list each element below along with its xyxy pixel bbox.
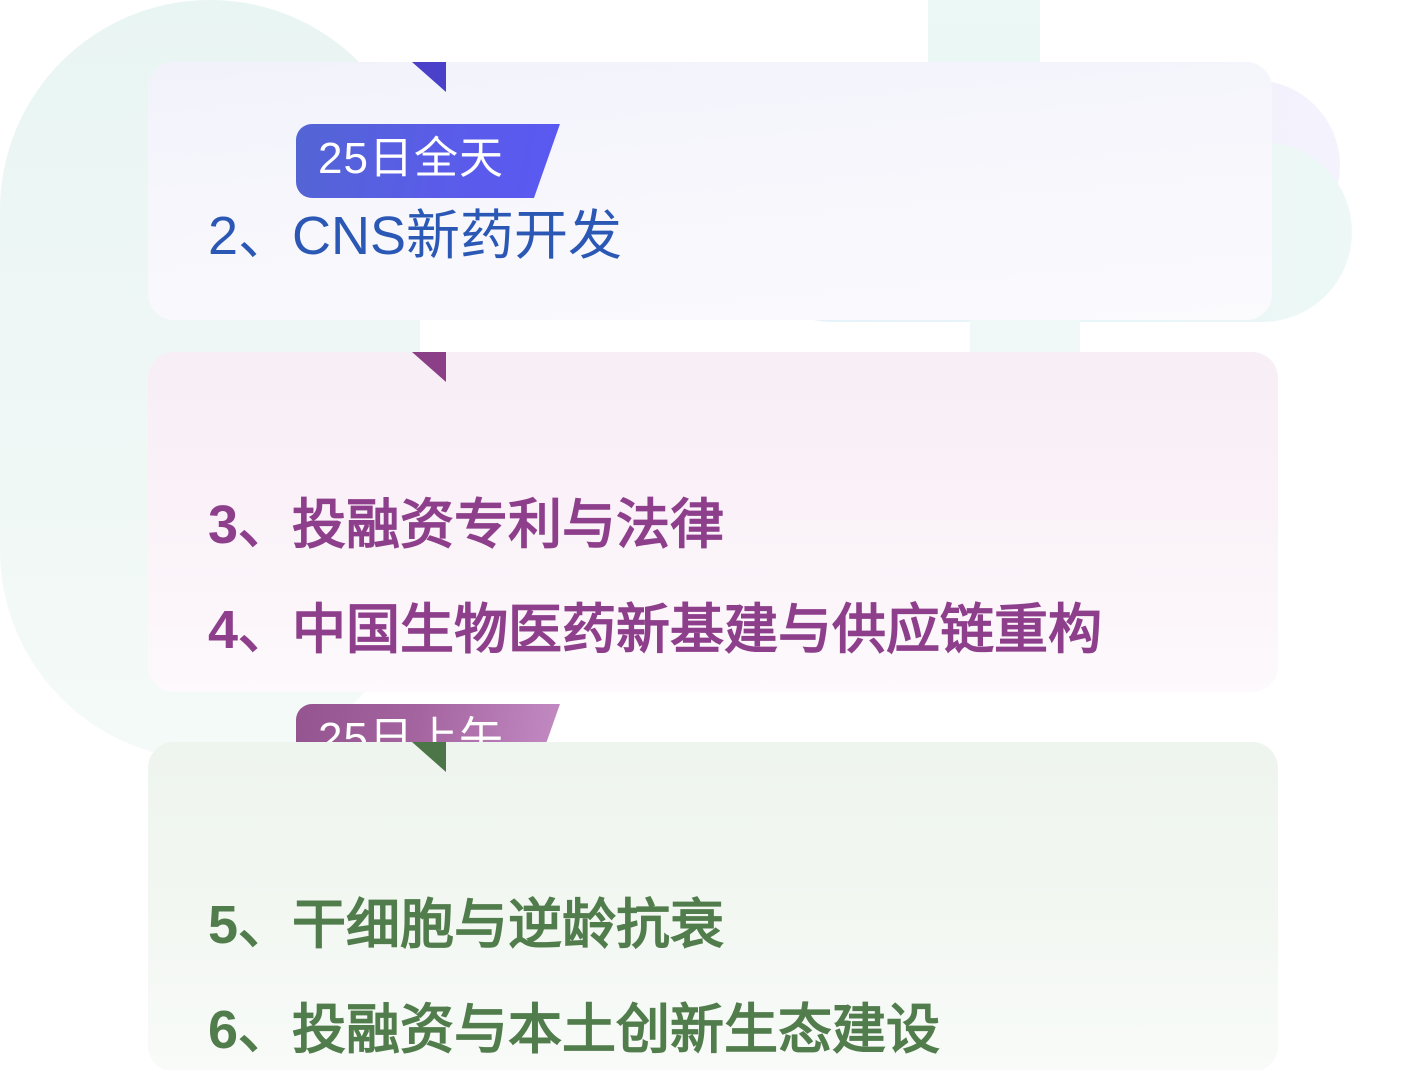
badge-allday-label: 25日全天 (318, 137, 504, 181)
session-item: 2、CNS新药开发 (208, 206, 622, 266)
ribbon-fold-icon (412, 742, 446, 772)
session-item: 4、中国生物医药新基建与供应链重构 (208, 600, 1102, 660)
ribbon-morning: 25日上午 (148, 352, 468, 426)
session-item: 6、投融资与本土创新生态建设 (208, 1000, 940, 1060)
badge-allday: 25日全天 (296, 124, 560, 198)
session-item: 5、干细胞与逆龄抗衰 (208, 895, 724, 955)
agenda-poster: 25日全天 2、CNS新药开发 25日上午 3、投融资专利与法律 4、中国生物医… (0, 0, 1420, 1070)
ribbon-fold-icon (412, 352, 446, 382)
session-item: 3、投融资专利与法律 (208, 495, 724, 555)
ribbon-fold-icon (412, 62, 446, 92)
ribbon-allday: 25日全天 (148, 62, 468, 136)
ribbon-afternoon: 25日下午 (148, 742, 468, 816)
